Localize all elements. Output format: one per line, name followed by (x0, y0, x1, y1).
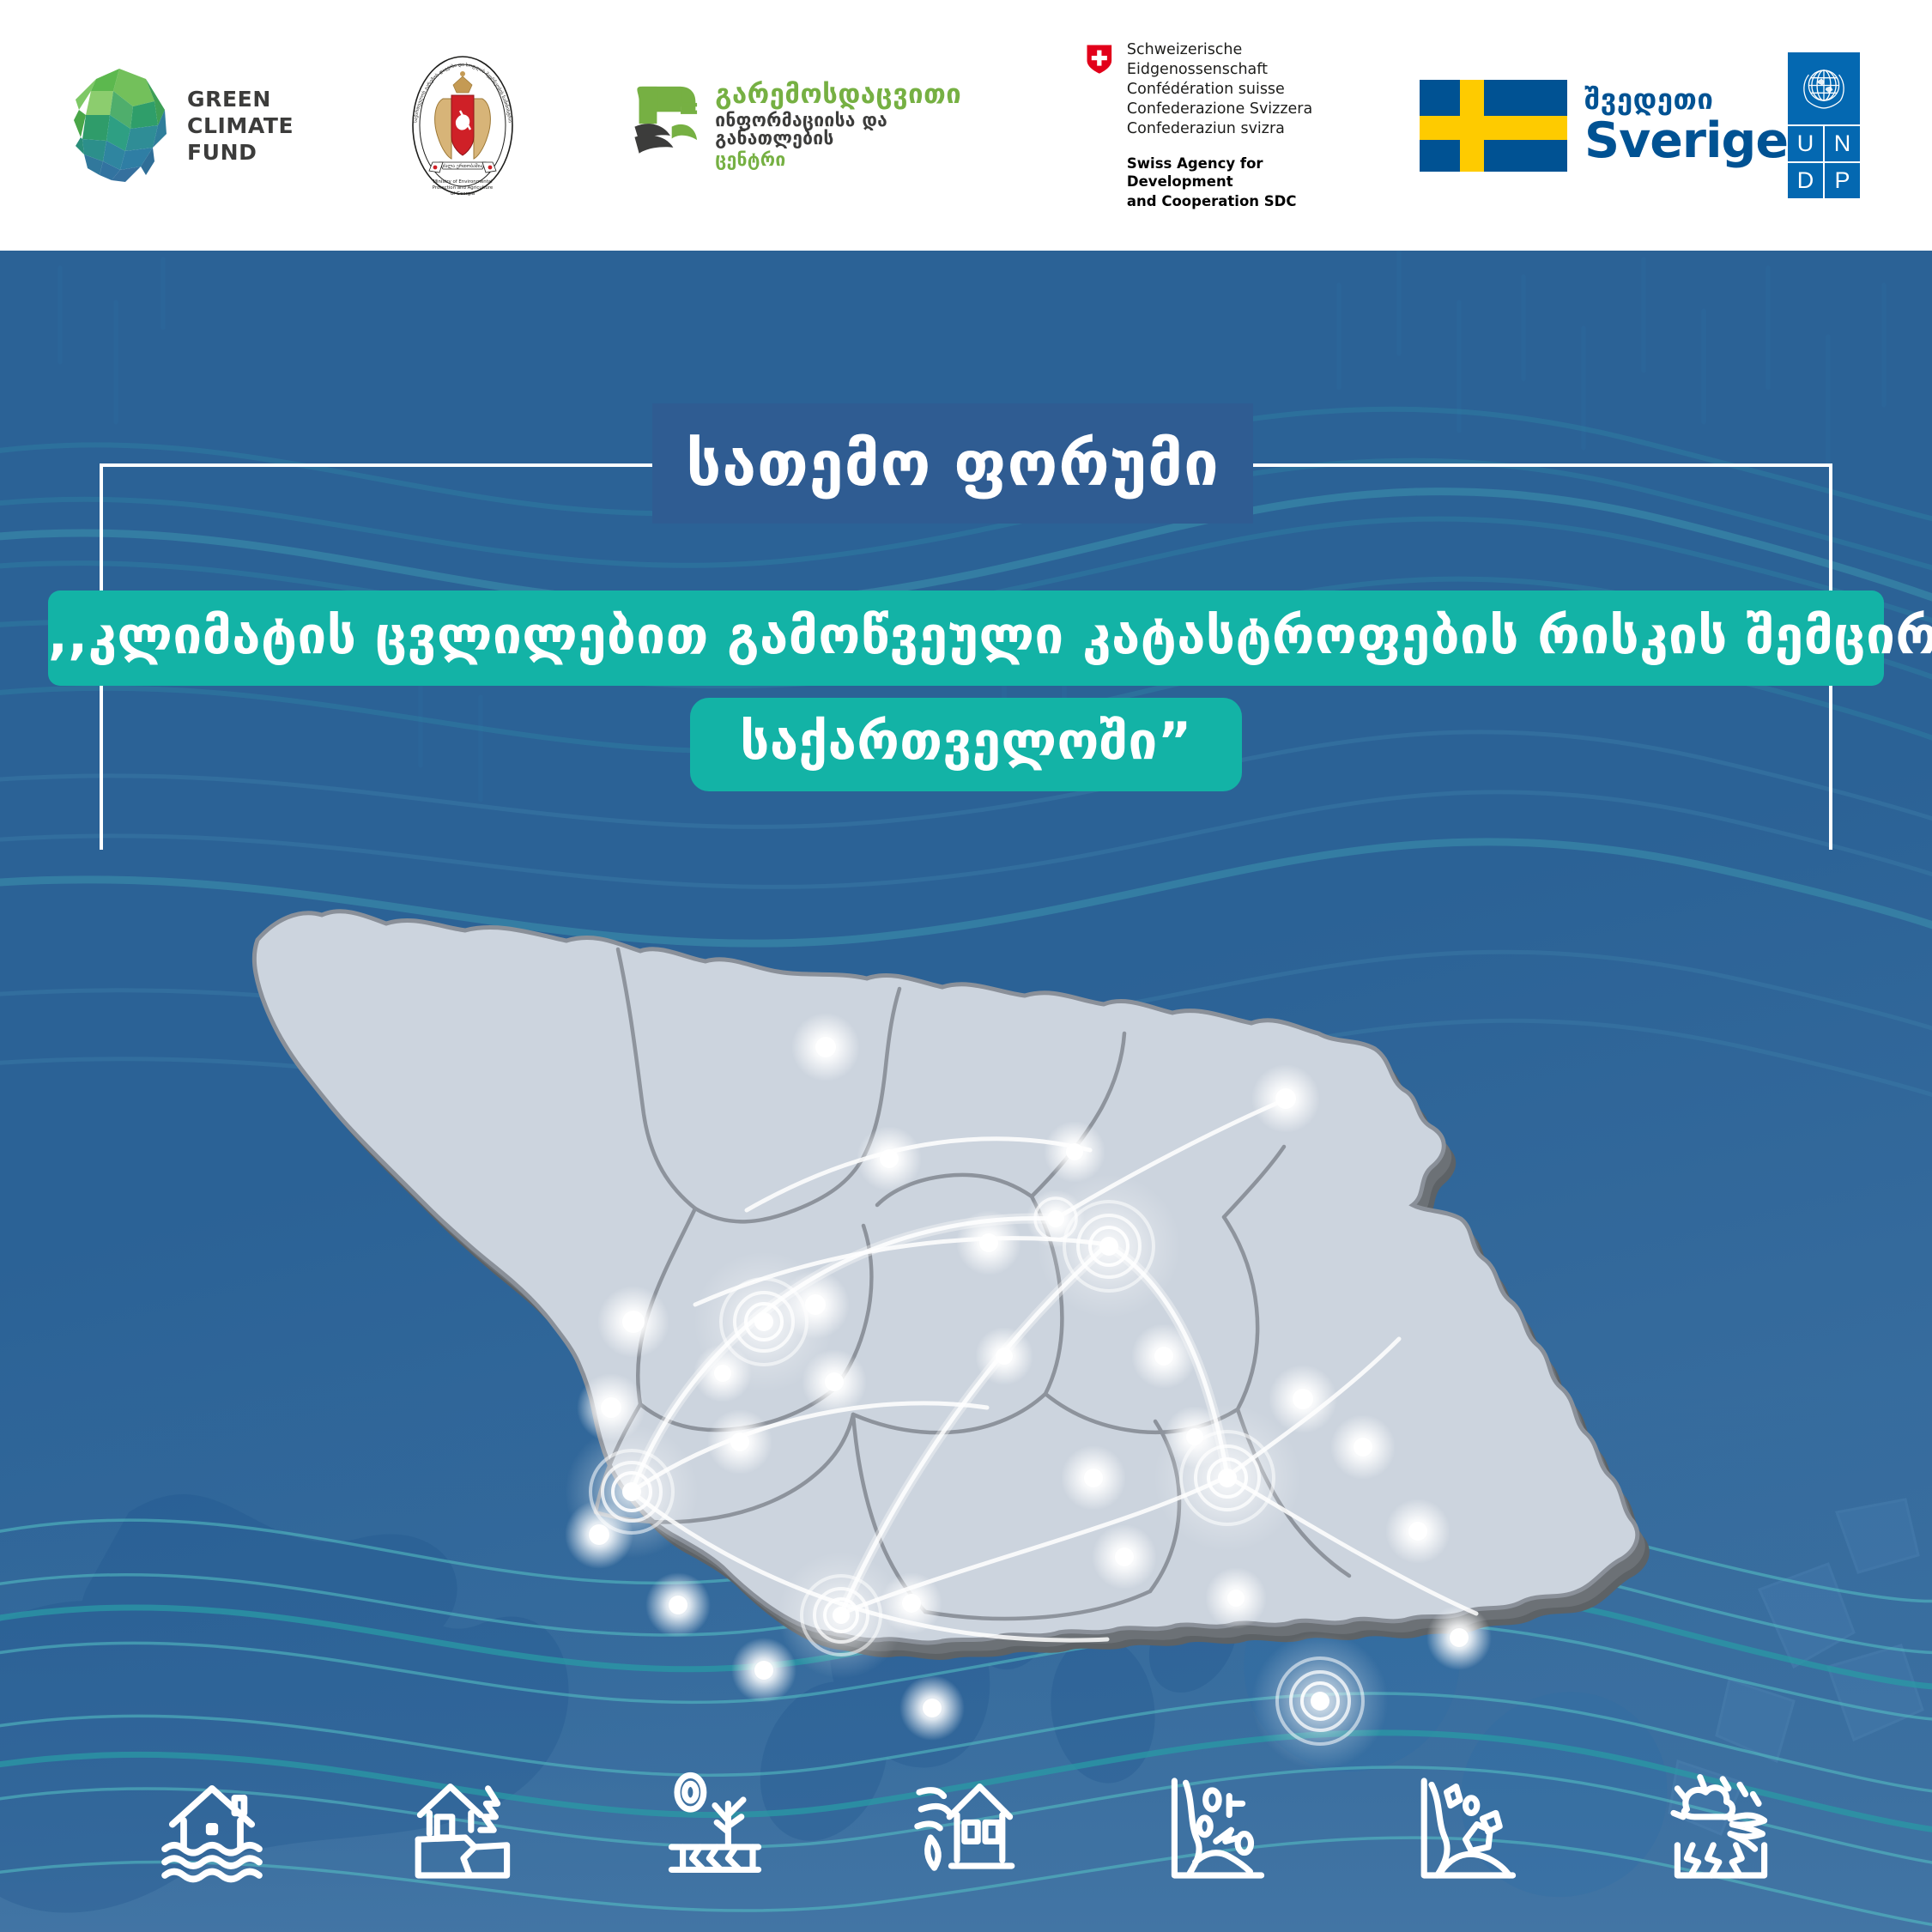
svg-text:ძალა ერთობაშია: ძალა ერთობაშია (443, 163, 483, 169)
svg-text:of Georgia: of Georgia (451, 191, 475, 197)
sweden-label-en: Sverige (1584, 117, 1788, 166)
swiss-line-de: Schweizerische Eidgenossenschaft (1127, 40, 1323, 80)
partner-logo-header: GREEN CLIMATE FUND (0, 0, 1932, 251)
sweden-label-ka: შვედეთი (1584, 85, 1788, 113)
gcf-wordmark: GREEN CLIMATE FUND (187, 86, 294, 166)
logo-sweden-sverige: შვედეთი Sverige (1420, 80, 1788, 172)
eiec-line-3: ცენტრი (715, 151, 972, 169)
logo-green-climate-fund: GREEN CLIMATE FUND (69, 65, 294, 185)
avalanche-icon (1158, 1768, 1278, 1888)
event-kicker-text: სათემო ფორუმი (686, 427, 1219, 500)
poster-root: GREEN CLIMATE FUND (0, 0, 1932, 1932)
mepa-seal-icon: ძალა ერთობაშია საქართველოს გარემოს დაცვი… (395, 54, 530, 197)
swiss-agency-line-1: Swiss Agency for Development (1127, 154, 1323, 191)
event-kicker-badge: სათემო ფორუმი (652, 403, 1253, 524)
sweden-wordmark: შვედეთი Sverige (1584, 85, 1788, 166)
drought-icon (655, 1768, 775, 1888)
hazard-icon-strip (0, 1764, 1932, 1893)
rockfall-icon (1409, 1768, 1529, 1888)
un-emblem-icon (1788, 52, 1860, 124)
project-title-line-1: ,,კლიმატის ცვლილებით გამოწვეული კატასტრო… (48, 591, 1884, 686)
eiec-leaf-book-icon (632, 81, 703, 170)
swiss-shield-icon (1086, 44, 1113, 85)
landslide-house-icon (403, 1768, 524, 1888)
undp-letter-n: N (1825, 126, 1860, 161)
swiss-wordmark: Schweizerische Eidgenossenschaft Confédé… (1127, 40, 1323, 210)
eiec-wordmark: გარემოსდაცვითი ინფორმაციისა და განათლები… (715, 82, 972, 169)
swiss-agency-line-2: and Cooperation SDC (1127, 192, 1323, 210)
logo-environmental-information-education-centre: გარემოსდაცვითი ინფორმაციისა და განათლები… (632, 81, 972, 170)
georgia-map (215, 841, 1717, 1785)
project-title-line-2: საქართველოში” (690, 698, 1242, 791)
hail-storm-icon (1661, 1768, 1781, 1888)
logo-undp: U N D P (1788, 52, 1860, 198)
svg-text:Protection and Agriculture: Protection and Agriculture (433, 185, 494, 191)
windstorm-house-icon (906, 1768, 1027, 1888)
gcf-globe-icon (69, 65, 170, 185)
logo-swiss-sdc: Schweizerische Eidgenossenschaft Confédé… (1086, 40, 1323, 210)
swiss-line-fr: Confédération suisse (1127, 80, 1323, 100)
logo-ministry-environment-agriculture-georgia: ძალა ერთობაშია საქართველოს გარემოს დაცვი… (395, 54, 530, 197)
undp-letter-u: U (1788, 126, 1823, 161)
svg-text:Ministry of Environmental: Ministry of Environmental (433, 179, 493, 185)
swiss-line-rm: Confederaziun svizra (1127, 119, 1323, 139)
eiec-line-2: ინფორმაციისა და განათლების (715, 112, 972, 148)
georgia-map-svg (215, 841, 1717, 1785)
swiss-line-it: Confederazione Svizzera (1127, 100, 1323, 119)
undp-letter-d: D (1788, 163, 1823, 198)
eiec-line-1: გარემოსდაცვითი (715, 82, 972, 108)
project-title-block: ,,კლიმატის ცვლილებით გამოწვეული კატასტრო… (0, 591, 1932, 791)
flood-icon (152, 1768, 272, 1888)
undp-letter-p: P (1825, 163, 1860, 198)
sweden-flag-icon (1420, 80, 1567, 172)
